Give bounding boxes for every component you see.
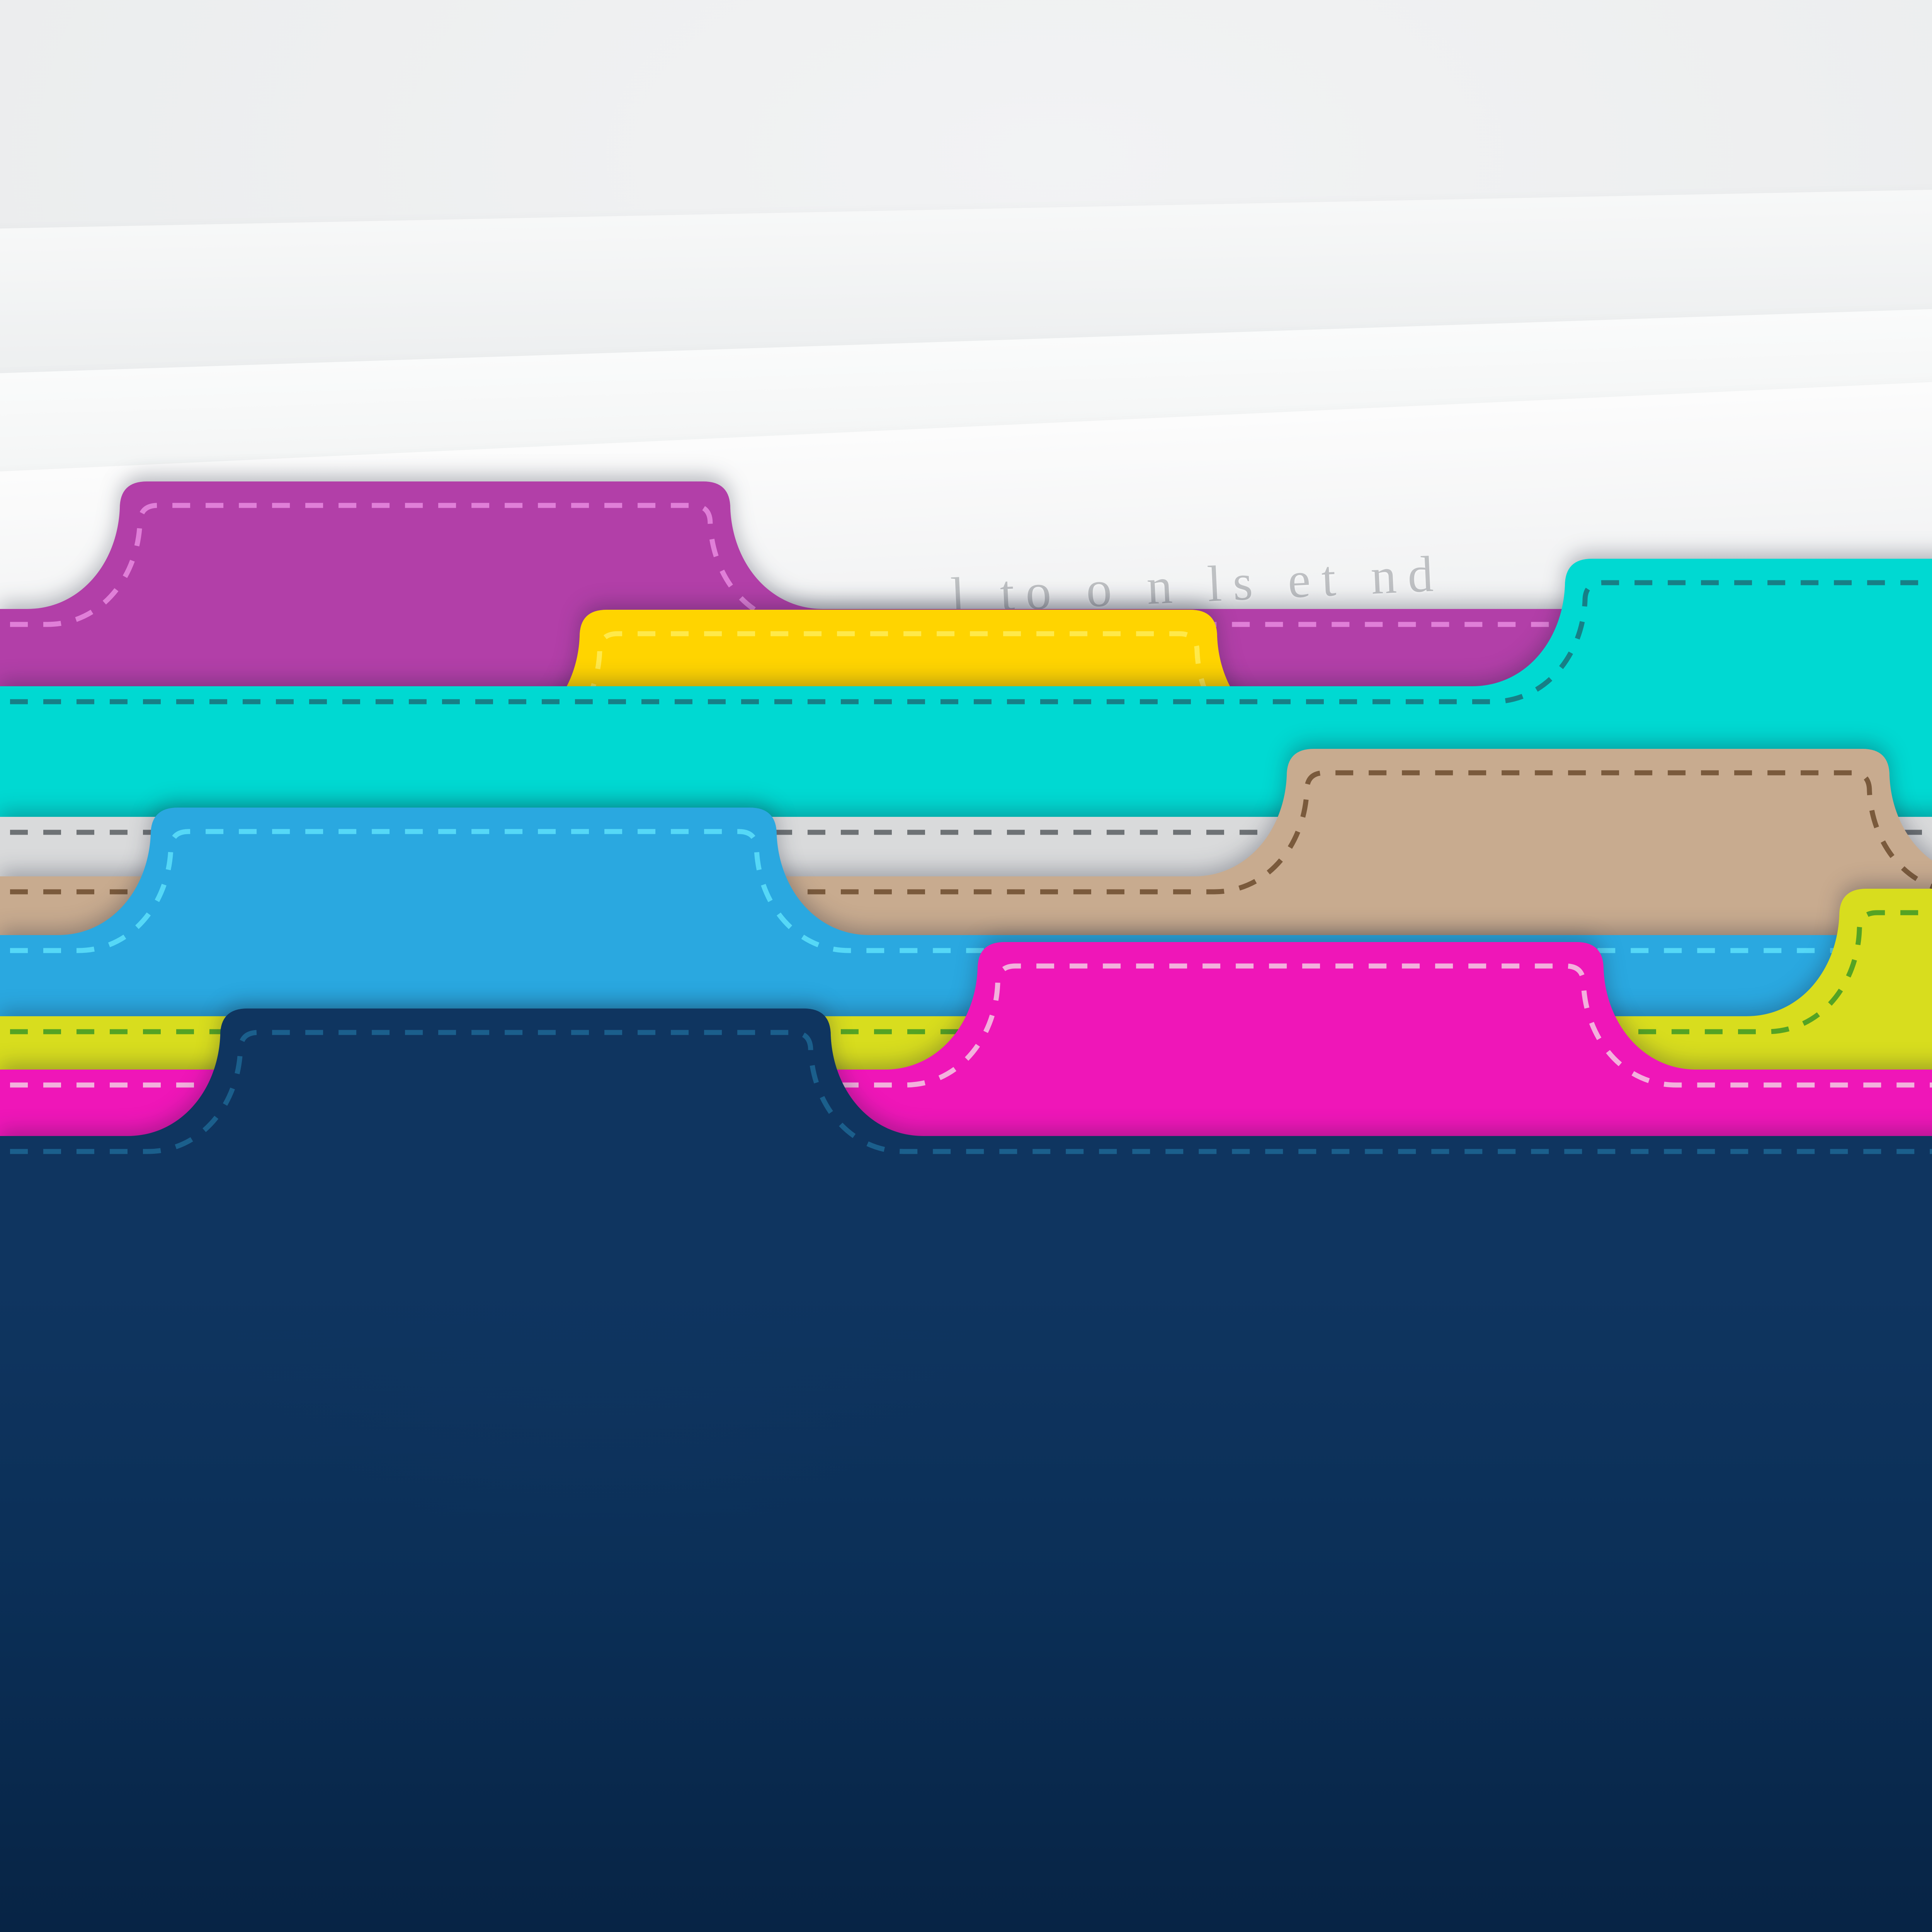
folder-highlight <box>0 1009 1932 1932</box>
folder-tab-stack: FORM SF-312NON DISCLOSUREREDACTED DOCUME… <box>0 0 1932 1932</box>
